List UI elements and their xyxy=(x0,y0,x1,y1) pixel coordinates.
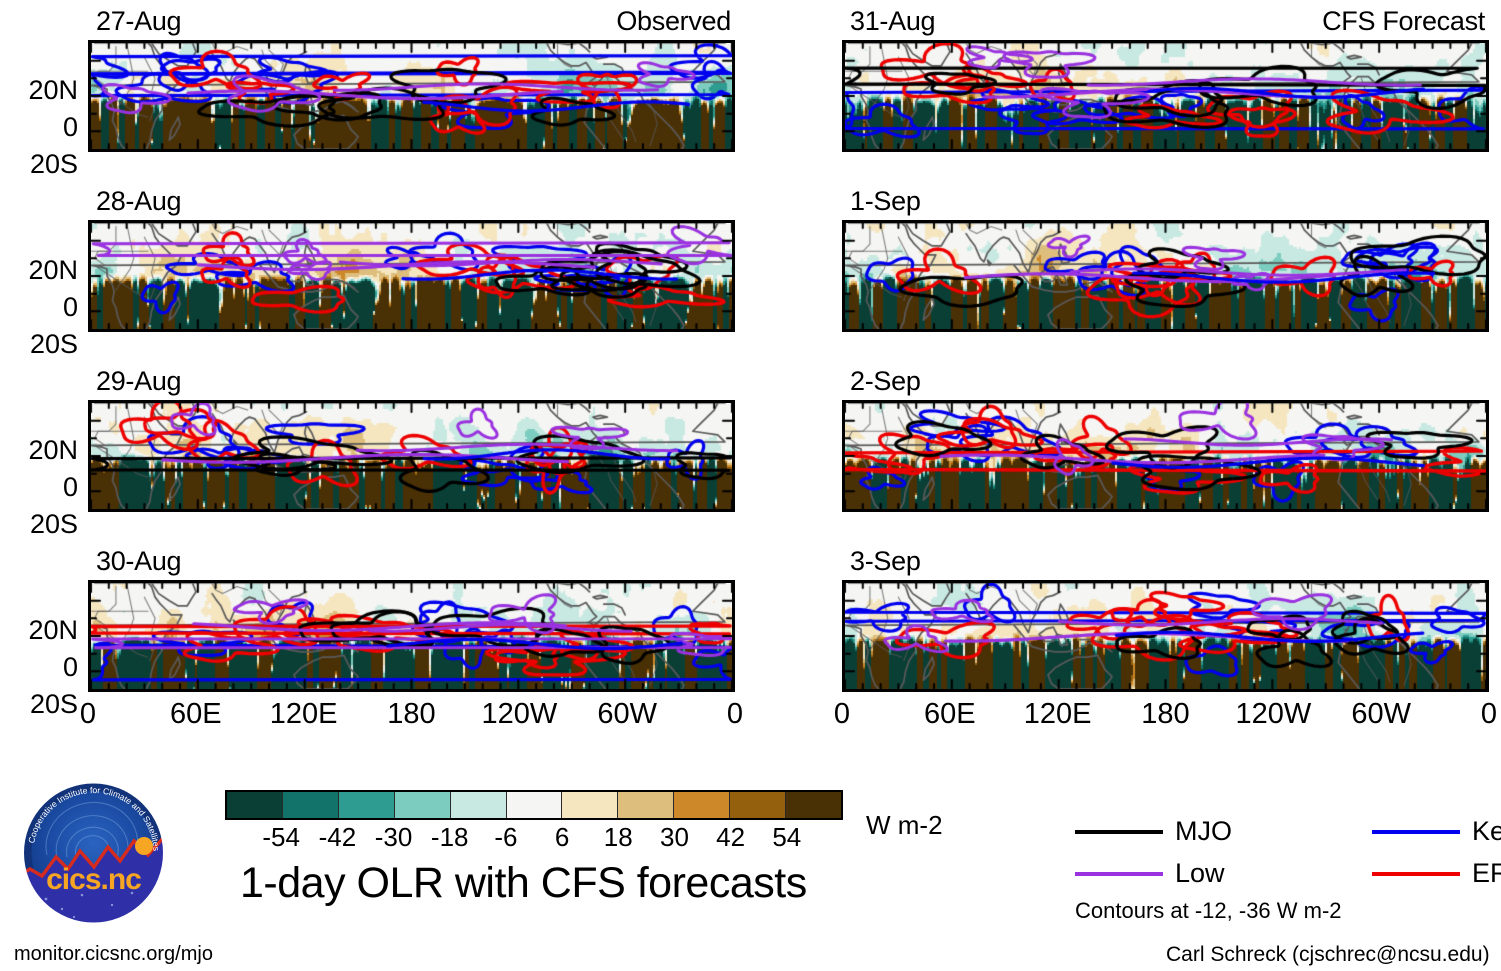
colorbar-tick-label: 54 xyxy=(772,824,801,850)
y-tick-label: 20N xyxy=(0,617,78,644)
colorbar-tick-label: -42 xyxy=(319,824,357,850)
x-tick-label: 120W xyxy=(481,700,557,729)
colorbar-segment xyxy=(451,792,507,818)
panel-date-label: 3-Sep xyxy=(850,548,921,575)
y-tick-label: 20S xyxy=(0,331,78,358)
legend-entry-kelvin: Kelvin xyxy=(1372,818,1501,845)
olr-map xyxy=(842,580,1489,692)
panel-1-sep: 1-Sep xyxy=(842,188,1489,332)
x-tick-label: 180 xyxy=(387,700,435,729)
author-credit: Carl Schreck (cjschrec@ncsu.edu) xyxy=(1166,944,1490,965)
x-tick-label: 0 xyxy=(727,700,743,729)
x-tick-label: 60E xyxy=(924,700,976,729)
x-tick-label: 60E xyxy=(170,700,222,729)
legend-entry-mjo: MJO xyxy=(1075,818,1232,845)
colorbar-segment xyxy=(674,792,730,818)
column-header-observed: Observed xyxy=(616,8,731,35)
panel-2-sep: 2-Sep xyxy=(842,368,1489,512)
olr-map xyxy=(88,40,735,152)
olr-map xyxy=(88,400,735,512)
panel-31-aug: 31-AugCFS Forecast xyxy=(842,8,1489,152)
legend-line-swatch xyxy=(1075,830,1163,834)
y-tick-label: 20N xyxy=(0,257,78,284)
x-axis-column-0: 060E120E180120W60W0 xyxy=(88,700,735,740)
legend-line-swatch xyxy=(1075,872,1163,876)
y-tick-label: 20S xyxy=(0,151,78,178)
x-tick-label: 180 xyxy=(1141,700,1189,729)
panel-date-label: 30-Aug xyxy=(96,548,181,575)
colorbar-segment xyxy=(283,792,339,818)
colorbar-segment xyxy=(395,792,451,818)
x-tick-label: 0 xyxy=(1481,700,1497,729)
colorbar-tick-label: -54 xyxy=(262,824,300,850)
colorbar-tick-label: 30 xyxy=(660,824,689,850)
panel-date-label: 2-Sep xyxy=(850,368,921,395)
panel-date-label: 1-Sep xyxy=(850,188,921,215)
legend-label: MJO xyxy=(1175,818,1232,845)
site-url: monitor.cicsnc.org/mjo xyxy=(14,944,213,964)
legend-label: Low xyxy=(1175,860,1225,887)
x-tick-label: 120W xyxy=(1235,700,1311,729)
colorbar-segment xyxy=(562,792,618,818)
y-tick-label: 20S xyxy=(0,691,78,718)
colorbar xyxy=(225,790,843,820)
y-tick-label: 0 xyxy=(0,294,78,321)
y-tick-label: 20N xyxy=(0,437,78,464)
panel-30-aug: 30-Aug xyxy=(88,548,735,692)
y-tick-label: 20S xyxy=(0,511,78,538)
legend-label: ER xyxy=(1472,860,1501,887)
x-tick-label: 0 xyxy=(834,700,850,729)
panel-28-aug: 28-Aug xyxy=(88,188,735,332)
colorbar-tick-label: -30 xyxy=(375,824,413,850)
cicsnc-logo: cics.nc Cooperative Institute for Climat… xyxy=(16,777,171,929)
legend-entry-er: ER xyxy=(1372,860,1501,887)
legend-label: Kelvin xyxy=(1472,818,1501,845)
y-tick-label: 0 xyxy=(0,654,78,681)
panel-date-label: 29-Aug xyxy=(96,368,181,395)
colorbar-segment xyxy=(786,792,841,818)
colorbar-segment xyxy=(227,792,283,818)
figure-title: 1-day OLR with CFS forecasts xyxy=(240,862,807,905)
colorbar-tick-label: 42 xyxy=(716,824,745,850)
x-tick-label: 60W xyxy=(1351,700,1411,729)
y-tick-label: 0 xyxy=(0,114,78,141)
olr-map xyxy=(842,220,1489,332)
olr-map xyxy=(88,580,735,692)
colorbar-tick-label: -18 xyxy=(431,824,469,850)
svg-text:cics.nc: cics.nc xyxy=(46,863,141,896)
panel-date-label: 31-Aug xyxy=(850,8,935,35)
y-tick-label: 0 xyxy=(0,474,78,501)
legend-line-swatch xyxy=(1372,872,1460,876)
colorbar-tick-label: -6 xyxy=(494,824,517,850)
panel-29-aug: 29-Aug xyxy=(88,368,735,512)
x-tick-label: 60W xyxy=(597,700,657,729)
colorbar-tick-label: 6 xyxy=(555,824,569,850)
colorbar-segment xyxy=(507,792,563,818)
panel-27-aug: 27-AugObserved xyxy=(88,8,735,152)
olr-map xyxy=(88,220,735,332)
contour-note: Contours at -12, -36 W m-2 xyxy=(1075,900,1342,922)
panel-3-sep: 3-Sep xyxy=(842,548,1489,692)
colorbar-segment xyxy=(339,792,395,818)
colorbar-segment xyxy=(618,792,674,818)
legend-entry-low: Low xyxy=(1075,860,1225,887)
panel-date-label: 28-Aug xyxy=(96,188,181,215)
olr-map xyxy=(842,40,1489,152)
legend-line-swatch xyxy=(1372,830,1460,834)
x-tick-label: 120E xyxy=(270,700,338,729)
x-tick-label: 0 xyxy=(80,700,96,729)
panel-date-label: 27-Aug xyxy=(96,8,181,35)
colorbar-tick-label: 18 xyxy=(604,824,633,850)
colorbar-units-label: W m-2 xyxy=(866,812,943,838)
colorbar-segment xyxy=(730,792,786,818)
y-tick-label: 20N xyxy=(0,77,78,104)
olr-map xyxy=(842,400,1489,512)
x-tick-label: 120E xyxy=(1024,700,1092,729)
x-axis-column-1: 060E120E180120W60W0 xyxy=(842,700,1489,740)
column-header-cfs-forecast: CFS Forecast xyxy=(1322,8,1485,35)
